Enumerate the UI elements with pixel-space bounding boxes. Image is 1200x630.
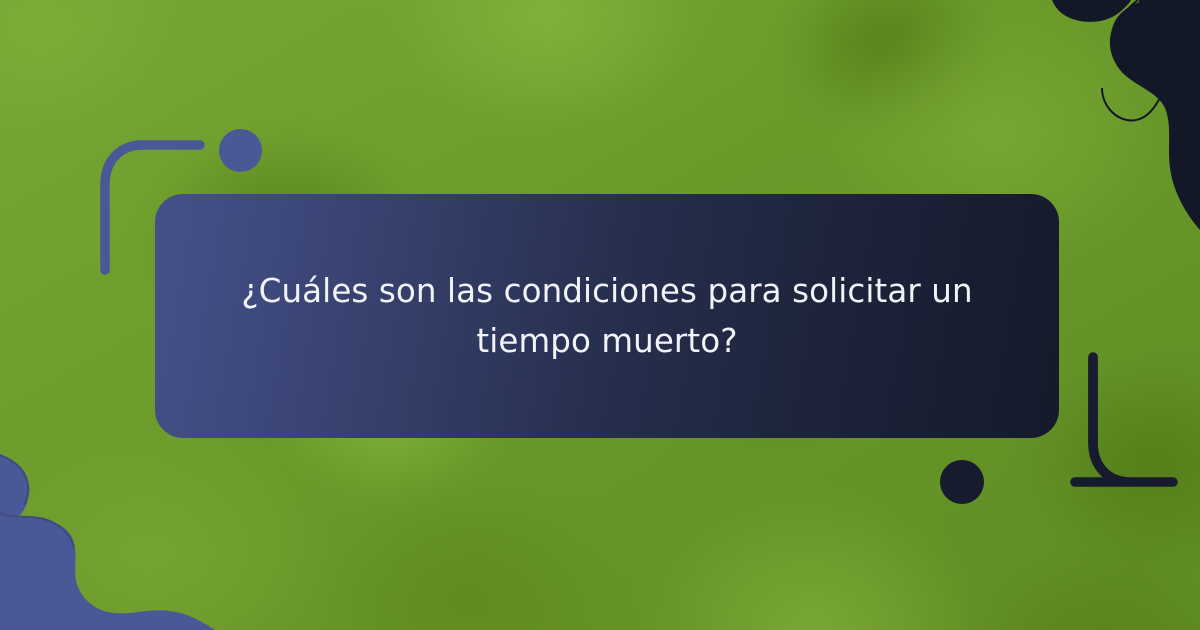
accent-dot-bottom-right [940, 460, 984, 504]
accent-dot-top-left [219, 129, 262, 172]
quote-card-graphic: ¿Cuáles son las condiciones para solicit… [0, 0, 1200, 630]
quote-card: ¿Cuáles son las condiciones para solicit… [155, 194, 1059, 438]
quote-text: ¿Cuáles son las condiciones para solicit… [222, 266, 992, 367]
organic-blob-bottom-left [0, 415, 215, 630]
corner-bracket-bottom-right-icon [1069, 352, 1179, 487]
